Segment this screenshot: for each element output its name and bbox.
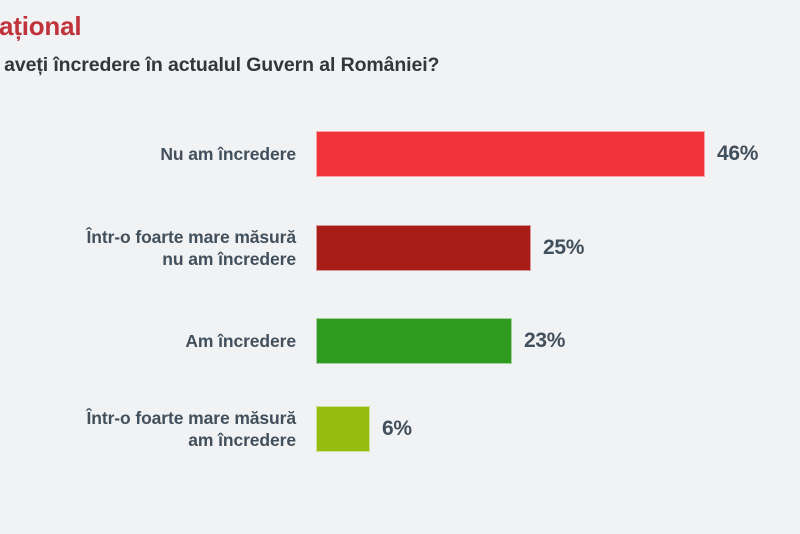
bar-wrapper: 25% [316, 225, 584, 271]
bar-wrapper: 6% [316, 406, 412, 452]
bar-row: Într-o foarte mare măsură nu am încreder… [0, 225, 800, 271]
bar-value-label: 6% [382, 417, 412, 441]
bar-strong-trust [316, 406, 370, 452]
bar-category-label: Nu am încredere [0, 143, 296, 165]
bar-trust [316, 318, 512, 364]
bar-no-trust [316, 131, 705, 177]
poll-bar-chart: laj național măsură aveți încredere în a… [0, 0, 800, 534]
bar-value-label: 23% [524, 329, 565, 353]
bar-row: Într-o foarte mare măsură am încredere 6… [0, 406, 800, 452]
bar-category-label: Într-o foarte mare măsură am încredere [0, 407, 296, 452]
bar-value-label: 25% [543, 236, 584, 260]
bar-strong-no-trust [316, 225, 531, 271]
chart-subtitle: măsură aveți încredere în actualul Guver… [0, 54, 439, 77]
bar-row: Nu am încredere 46% [0, 131, 800, 177]
bar-wrapper: 46% [316, 131, 758, 177]
bar-wrapper: 23% [316, 318, 565, 364]
bar-category-label: Într-o foarte mare măsură nu am încreder… [0, 226, 296, 271]
bar-category-label: Am încredere [0, 330, 296, 352]
plot-area: Nu am încredere 46% Într-o foarte mare m… [0, 112, 800, 472]
bar-row: Am încredere 23% [0, 318, 800, 364]
page-title: laj național [0, 11, 81, 42]
bar-value-label: 46% [717, 142, 758, 166]
